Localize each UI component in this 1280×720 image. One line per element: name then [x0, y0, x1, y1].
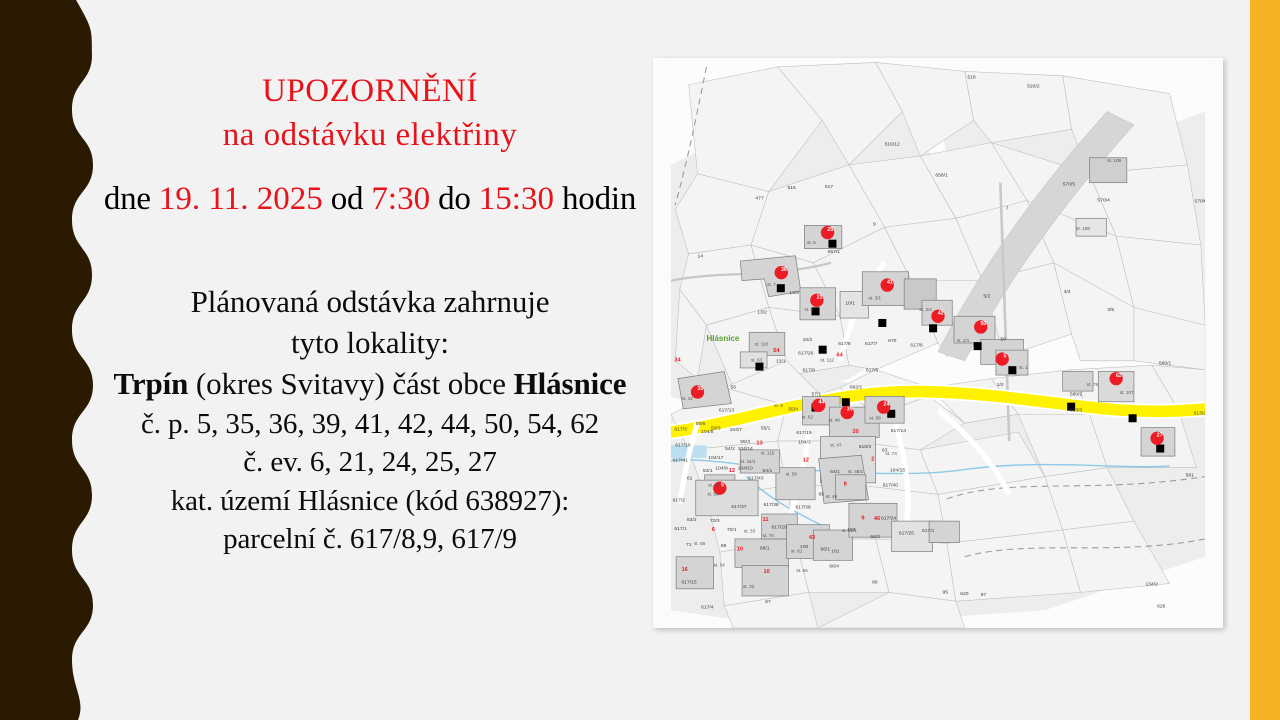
svg-text:570/6: 570/6: [1195, 198, 1208, 204]
svg-text:104/15: 104/15: [890, 467, 905, 473]
svg-text:658/1: 658/1: [935, 172, 948, 178]
svg-text:st. 56: st. 56: [707, 491, 719, 496]
text-spacer: [100, 221, 640, 281]
svg-text:71: 71: [686, 542, 692, 548]
notice-text-column: UPOZORNĚNÍ na odstávku elektřiny dne 19.…: [100, 70, 640, 559]
svg-text:617/7: 617/7: [865, 341, 878, 347]
svg-text:617/15: 617/15: [682, 579, 697, 585]
svg-text:657/1: 657/1: [828, 249, 841, 255]
svg-text:64/1: 64/1: [830, 469, 840, 475]
svg-text:518: 518: [967, 74, 976, 80]
svg-text:55/4: 55/4: [788, 407, 798, 413]
svg-text:st. 43: st. 43: [708, 482, 720, 487]
svg-text:44: 44: [818, 400, 824, 406]
cadastral-area-line: kat. území Hlásnice (kód 638927):: [100, 482, 640, 521]
date-prefix: dne: [104, 181, 159, 217]
outage-date: 19. 11. 2025: [159, 181, 323, 217]
svg-text:st. 46: st. 46: [828, 417, 840, 422]
svg-text:st. 115: st. 115: [761, 450, 775, 455]
svg-text:57/1: 57/1: [812, 392, 822, 398]
svg-text:st. 32: st. 32: [743, 584, 755, 589]
date-mid-od: od: [323, 181, 372, 217]
svg-text:66/3: 66/3: [870, 534, 880, 540]
svg-text:8: 8: [844, 482, 847, 488]
svg-text:st. 50: st. 50: [786, 472, 798, 477]
locality-town: Trpín: [114, 366, 189, 401]
svg-text:69: 69: [721, 543, 727, 549]
svg-text:st. 7: st. 7: [767, 282, 776, 287]
body-line-2: tyto lokality:: [100, 322, 640, 363]
svg-text:st. 106: st. 106: [1076, 226, 1090, 231]
svg-text:5/2: 5/2: [983, 294, 990, 300]
cadastral-map: 25 36 21 41 42 50 5 35 62 44 39 24 27 5: [653, 58, 1223, 628]
svg-text:st. 70: st. 70: [763, 533, 775, 538]
svg-text:55/1: 55/1: [761, 425, 771, 431]
svg-text:5: 5: [721, 482, 724, 488]
svg-text:67: 67: [765, 599, 771, 605]
svg-text:66/4: 66/4: [829, 563, 839, 569]
svg-text:104/7: 104/7: [730, 427, 743, 433]
svg-text:st. 110: st. 110: [755, 342, 769, 347]
svg-text:12: 12: [803, 457, 809, 463]
svg-text:16: 16: [682, 567, 688, 573]
svg-text:64: 64: [836, 352, 843, 358]
svg-text:617/40: 617/40: [883, 482, 898, 488]
svg-text:613/3: 613/3: [1070, 408, 1083, 414]
svg-text:70/1: 70/1: [727, 527, 737, 533]
parcels-line: parcelní č. 617/8,9, 617/9: [100, 520, 640, 559]
svg-text:580/2: 580/2: [1070, 392, 1083, 398]
svg-text:617/4: 617/4: [701, 604, 714, 610]
svg-text:25: 25: [827, 227, 833, 233]
svg-text:620: 620: [960, 591, 969, 597]
svg-text:st. 9: st. 9: [774, 403, 783, 408]
locality-line: Trpín (okres Svitavy) část obce Hlásnice: [100, 363, 640, 404]
svg-text:613/2: 613/2: [1194, 410, 1207, 416]
svg-text:2: 2: [871, 457, 874, 463]
svg-text:35: 35: [697, 386, 703, 392]
svg-text:515: 515: [787, 185, 796, 191]
svg-text:10/1: 10/1: [845, 301, 855, 307]
svg-text:104/9: 104/9: [715, 465, 728, 471]
svg-text:617/1: 617/1: [922, 528, 935, 534]
svg-text:617/39: 617/39: [796, 505, 811, 511]
svg-text:st. 109: st. 109: [1107, 158, 1121, 163]
svg-text:61: 61: [687, 475, 693, 481]
svg-text:3/5: 3/5: [1107, 307, 1114, 313]
svg-text:617/26: 617/26: [798, 351, 813, 357]
svg-text:st. 49: st. 49: [826, 494, 838, 499]
svg-text:9: 9: [873, 221, 876, 227]
svg-text:st. 42: st. 42: [682, 396, 694, 401]
svg-text:97: 97: [981, 592, 987, 598]
svg-text:95: 95: [942, 589, 948, 595]
svg-text:616/3: 616/3: [859, 444, 872, 450]
svg-text:3/4: 3/4: [1064, 289, 1071, 295]
locality-district: (okres Svitavy) část obce: [188, 366, 513, 401]
svg-text:st. 107: st. 107: [1120, 390, 1134, 395]
svg-text:13: 13: [756, 441, 762, 447]
left-wave-border: [0, 0, 100, 720]
svg-text:617/20: 617/20: [771, 524, 786, 530]
svg-text:st. 61: st. 61: [791, 548, 803, 553]
svg-text:617/6: 617/6: [910, 343, 923, 349]
body-line-1: Plánovaná odstávka zahrnuje: [100, 281, 640, 322]
svg-text:24: 24: [883, 401, 889, 407]
svg-text:580/1: 580/1: [1159, 360, 1172, 366]
outage-time-from: 7:30: [371, 181, 430, 217]
svg-text:9: 9: [861, 515, 864, 521]
svg-text:5: 5: [1003, 353, 1006, 359]
svg-text:42: 42: [938, 311, 944, 317]
svg-text:13/1: 13/1: [776, 359, 786, 365]
svg-text:570/4: 570/4: [1097, 197, 1110, 203]
svg-text:st. 65: st. 65: [796, 568, 808, 573]
date-suffix: hodin: [554, 181, 636, 217]
svg-text:27: 27: [1157, 433, 1163, 439]
svg-text:1/2: 1/2: [997, 382, 1004, 388]
svg-text:st. 2/1: st. 2/1: [957, 338, 970, 343]
svg-text:662/1: 662/1: [850, 384, 863, 390]
svg-text:516/12: 516/12: [885, 141, 900, 147]
svg-text:520/2: 520/2: [1027, 83, 1040, 89]
svg-text:134/2: 134/2: [1146, 581, 1159, 587]
svg-text:617/37: 617/37: [731, 504, 746, 510]
map-place-label: Hlásnice: [706, 334, 739, 343]
svg-text:626: 626: [1157, 604, 1166, 610]
date-mid-do: do: [430, 181, 479, 217]
svg-text:st. 79: st. 79: [1087, 382, 1099, 387]
svg-text:617/13: 617/13: [719, 408, 734, 414]
svg-text:617/41: 617/41: [673, 457, 688, 463]
svg-text:65: 65: [819, 491, 825, 497]
svg-text:617/2: 617/2: [673, 498, 686, 504]
svg-text:st. 112: st. 112: [820, 358, 834, 363]
svg-text:7: 7: [1006, 205, 1009, 211]
svg-text:59: 59: [1000, 336, 1006, 342]
svg-text:101: 101: [831, 548, 840, 554]
svg-text:36: 36: [781, 267, 787, 273]
svg-text:21: 21: [817, 294, 823, 300]
svg-text:66/1: 66/1: [820, 547, 830, 553]
svg-text:68/1: 68/1: [760, 546, 770, 552]
svg-text:13/3: 13/3: [789, 290, 799, 296]
svg-text:54/2: 54/2: [725, 446, 735, 452]
house-numbers-line: č. p. 5, 35, 36, 39, 41, 42, 44, 50, 54,…: [100, 405, 640, 444]
svg-text:62: 62: [1116, 373, 1122, 379]
svg-text:43: 43: [809, 535, 815, 541]
svg-text:670: 670: [888, 338, 897, 344]
svg-text:st. 34: st. 34: [714, 563, 726, 568]
svg-text:104/14: 104/14: [738, 446, 753, 452]
notice-title-line-2: na odstávku elektřiny: [100, 114, 640, 158]
svg-text:st. 6: st. 6: [804, 307, 813, 312]
svg-text:617/8: 617/8: [838, 341, 851, 347]
svg-text:56: 56: [730, 384, 736, 390]
svg-text:104/10: 104/10: [738, 465, 753, 471]
svg-text:10: 10: [737, 547, 743, 553]
svg-text:st. 74: st. 74: [885, 451, 897, 456]
svg-text:53/2: 53/2: [687, 517, 697, 523]
svg-text:10/2: 10/2: [803, 337, 813, 343]
svg-text:20: 20: [853, 429, 859, 435]
svg-text:st. 63: st. 63: [751, 358, 763, 363]
svg-text:54: 54: [773, 348, 780, 354]
svg-text:617/10: 617/10: [675, 442, 690, 448]
svg-text:st. 2/2: st. 2/2: [919, 307, 932, 312]
svg-text:10: 10: [763, 569, 769, 575]
svg-text:104/3: 104/3: [798, 440, 811, 446]
svg-text:54/1: 54/1: [763, 468, 773, 474]
svg-text:14: 14: [698, 254, 704, 260]
svg-text:50/6: 50/6: [696, 421, 706, 427]
svg-text:13/2: 13/2: [757, 310, 767, 316]
svg-text:39: 39: [847, 407, 853, 413]
svg-text:46: 46: [874, 516, 880, 522]
svg-text:st. 62: st. 62: [802, 415, 814, 420]
svg-text:50: 50: [980, 321, 986, 327]
svg-text:617/43: 617/43: [748, 475, 763, 481]
slide-root: UPOZORNĚNÍ na odstávku elektřiny dne 19.…: [0, 0, 1280, 720]
svg-text:st. 5: st. 5: [807, 240, 816, 245]
svg-text:617/3: 617/3: [674, 426, 687, 432]
svg-text:89: 89: [872, 579, 878, 585]
svg-text:104/8: 104/8: [701, 429, 714, 435]
svg-text:41: 41: [887, 279, 893, 285]
svg-text:st. 69: st. 69: [869, 416, 881, 421]
svg-text:st. 55: st. 55: [694, 541, 706, 546]
notice-date-line: dne 19. 11. 2025 od 7:30 do 15:30 hodin: [100, 178, 640, 221]
svg-text:617/38: 617/38: [763, 502, 778, 508]
svg-text:617/1: 617/1: [674, 526, 687, 532]
svg-text:104/17: 104/17: [708, 455, 723, 461]
svg-text:55/3: 55/3: [740, 439, 750, 445]
svg-text:12: 12: [729, 468, 735, 474]
svg-text:st. 44/1: st. 44/1: [740, 459, 756, 464]
svg-text:617/24: 617/24: [881, 515, 896, 521]
svg-text:617/9: 617/9: [803, 368, 816, 374]
svg-text:617/5: 617/5: [866, 368, 879, 374]
map-svg: 25 36 21 41 42 50 5 35 62 44 39 24 27 5: [653, 58, 1223, 628]
svg-text:6: 6: [712, 527, 715, 533]
svg-text:34: 34: [674, 358, 681, 364]
svg-text:70/3: 70/3: [710, 518, 720, 524]
svg-text:st. 1: st. 1: [1019, 365, 1028, 370]
right-accent-bar: [1250, 0, 1280, 720]
locality-part: Hlásnice: [514, 366, 627, 401]
svg-text:581: 581: [1186, 473, 1195, 479]
notice-title-line-1: UPOZORNĚNÍ: [100, 70, 640, 114]
svg-text:517: 517: [825, 184, 834, 190]
svg-text:st. 33: st. 33: [744, 529, 756, 534]
registration-numbers-line: č. ev. 6, 21, 24, 25, 27: [100, 443, 640, 482]
svg-text:570/5: 570/5: [1063, 181, 1076, 187]
svg-text:st. 3/1: st. 3/1: [869, 295, 882, 300]
svg-text:11: 11: [763, 517, 769, 523]
svg-text:st. 51/1: st. 51/1: [842, 528, 858, 533]
svg-text:st. 48/1: st. 48/1: [848, 469, 864, 474]
svg-text:617/19: 617/19: [796, 430, 811, 436]
svg-text:st. 47: st. 47: [830, 442, 842, 447]
svg-text:617/14: 617/14: [891, 428, 906, 434]
svg-text:53/1: 53/1: [703, 468, 713, 474]
outage-time-to: 15:30: [479, 181, 554, 217]
svg-text:617/25: 617/25: [899, 530, 914, 536]
svg-text:477: 477: [755, 196, 764, 202]
